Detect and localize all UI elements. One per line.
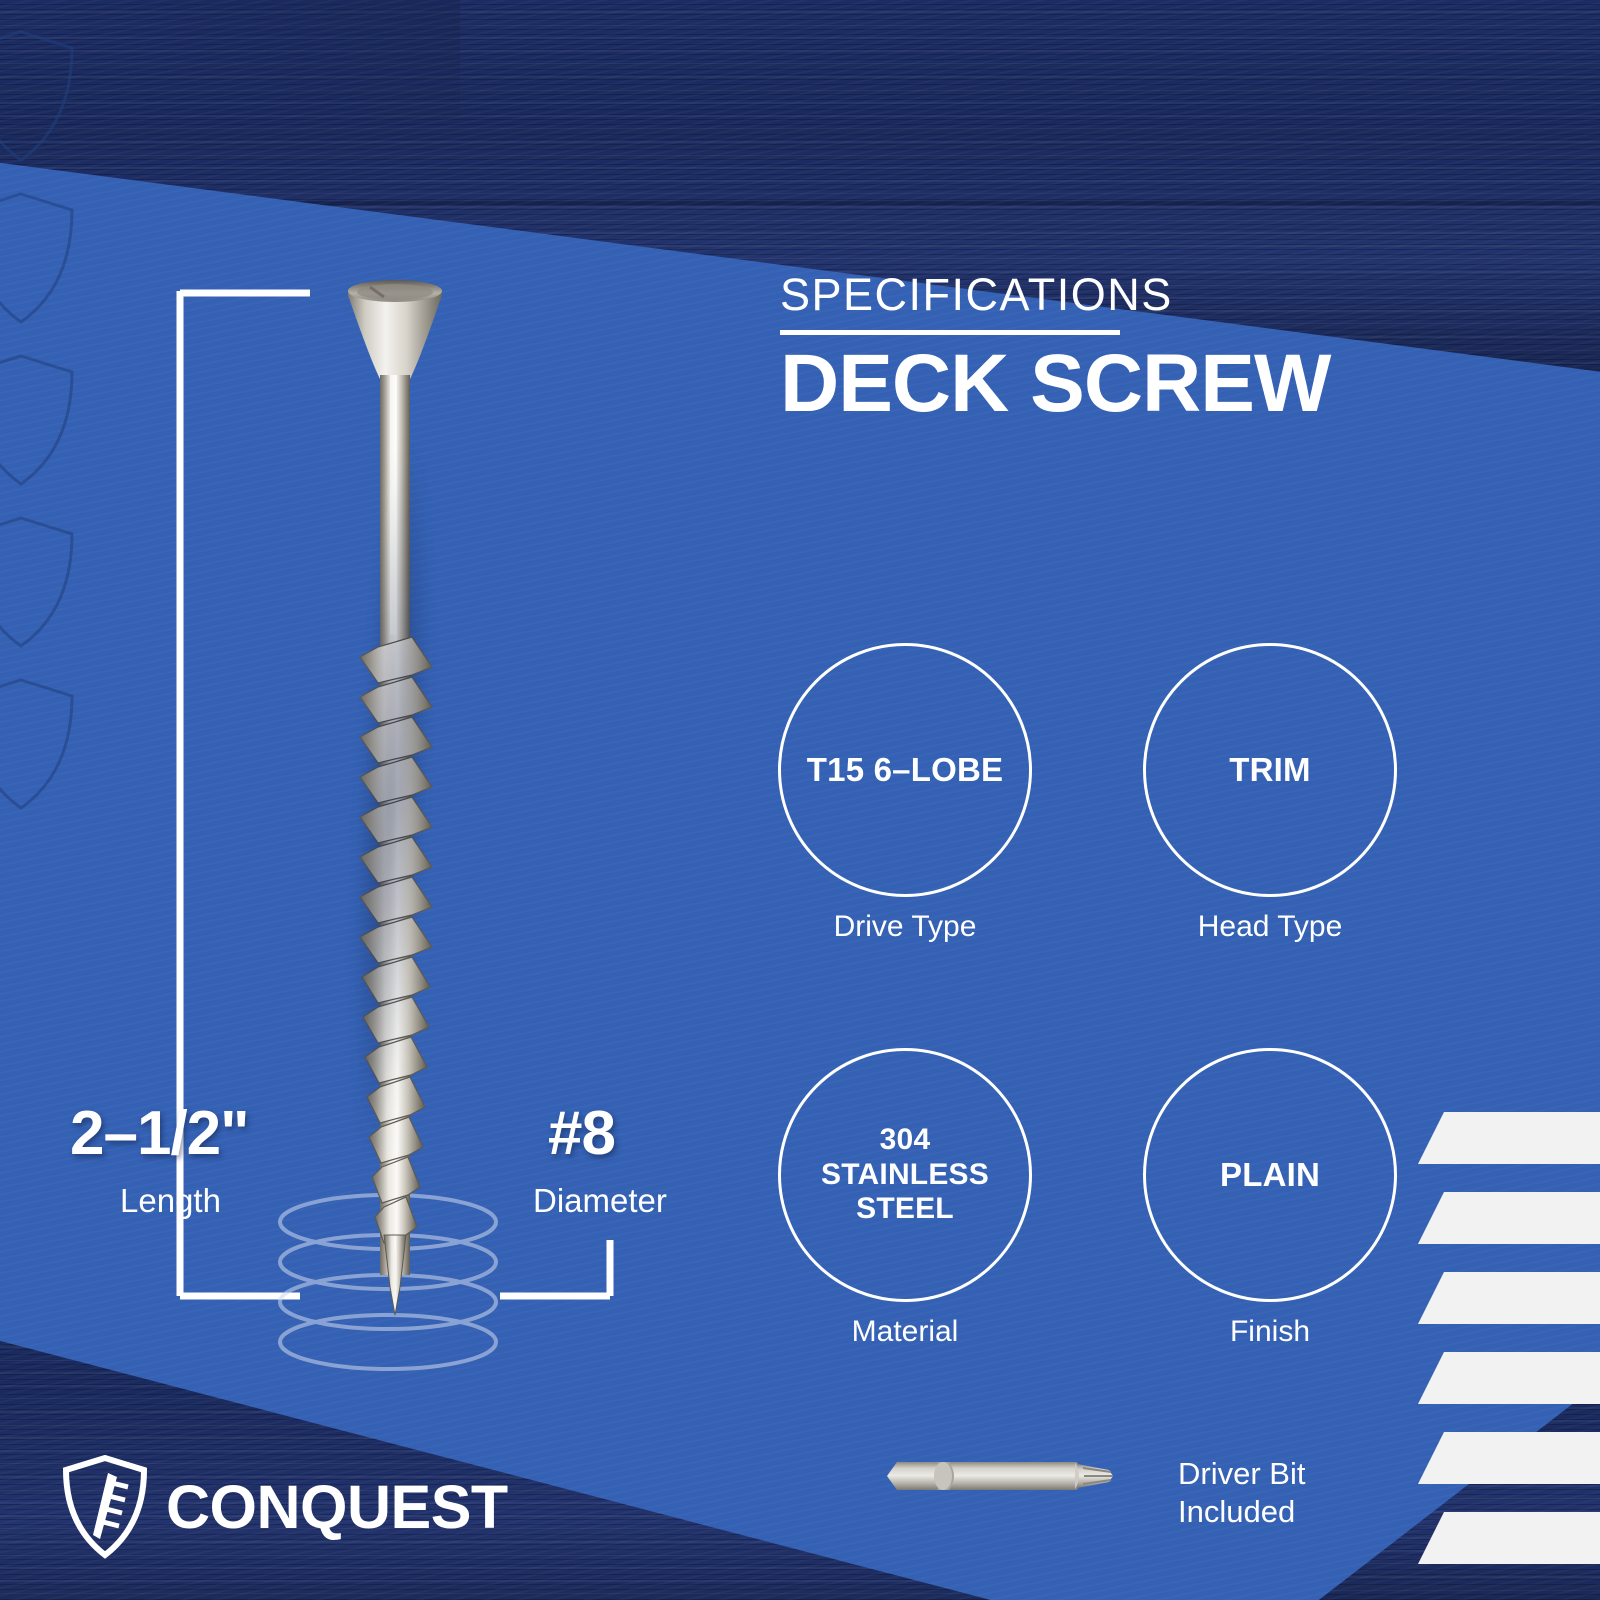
driver-bit-caption-line1: Driver Bit <box>1178 1456 1305 1491</box>
title-divider <box>780 330 1120 335</box>
shield-screw-icon <box>62 1455 148 1559</box>
spec-value-drive-type: T15 6–LOBE <box>799 751 1011 789</box>
shield-watermark-icon <box>0 352 76 488</box>
spec-circle-finish: PLAIN <box>1143 1048 1397 1302</box>
length-value: 2–1/2" <box>70 1098 249 1169</box>
brand-name: CONQUEST <box>166 1477 508 1538</box>
spec-caption-head-type: Head Type <box>1120 910 1420 944</box>
spec-value-material: 304 STAINLESS STEEL <box>813 1123 997 1227</box>
page-title: DECK SCREW <box>780 341 1400 426</box>
diameter-caption: Diameter <box>533 1182 667 1220</box>
deck-screw-image <box>300 275 490 1315</box>
length-caption: Length <box>120 1182 221 1220</box>
accent-stripe <box>1418 1192 1600 1244</box>
driver-bit-caption-line2: Included <box>1178 1494 1295 1529</box>
spec-sheet-canvas: 2–1/2" Length #8 Diameter SPECIFICATIONS… <box>0 0 1600 1600</box>
torx-driver-bit-image <box>885 1452 1115 1500</box>
accent-stripe <box>1418 1512 1600 1564</box>
shield-watermark-icon <box>0 190 76 326</box>
spec-caption-finish: Finish <box>1120 1315 1420 1349</box>
spec-circle-head-type: TRIM <box>1143 643 1397 897</box>
shield-watermark-icon <box>0 28 76 164</box>
accent-stripe <box>1418 1432 1600 1484</box>
brand-name-text: CONQUEST <box>166 1473 508 1541</box>
shield-watermark-icon <box>0 514 76 650</box>
spec-circle-material: 304 STAINLESS STEEL <box>778 1048 1032 1302</box>
spec-circle-drive-type: T15 6–LOBE <box>778 643 1032 897</box>
spec-header: SPECIFICATIONS DECK SCREW <box>780 272 1400 426</box>
spec-caption-material: Material <box>755 1315 1055 1349</box>
shield-watermark-column <box>0 28 76 838</box>
driver-bit-svg <box>885 1452 1115 1500</box>
diameter-value: #8 <box>548 1098 615 1169</box>
accent-stripe <box>1418 1352 1600 1404</box>
shield-watermark-icon <box>0 676 76 812</box>
accent-stripe <box>1418 1112 1600 1164</box>
spec-caption-drive-type: Drive Type <box>755 910 1055 944</box>
spec-value-finish: PLAIN <box>1212 1156 1328 1194</box>
accent-stripe <box>1418 1272 1600 1324</box>
spec-value-head-type: TRIM <box>1221 751 1318 789</box>
brand-logo: CONQUEST <box>62 1455 508 1559</box>
spec-kicker: SPECIFICATIONS <box>780 272 1400 317</box>
driver-bit-caption: Driver Bit Included <box>1178 1455 1305 1531</box>
